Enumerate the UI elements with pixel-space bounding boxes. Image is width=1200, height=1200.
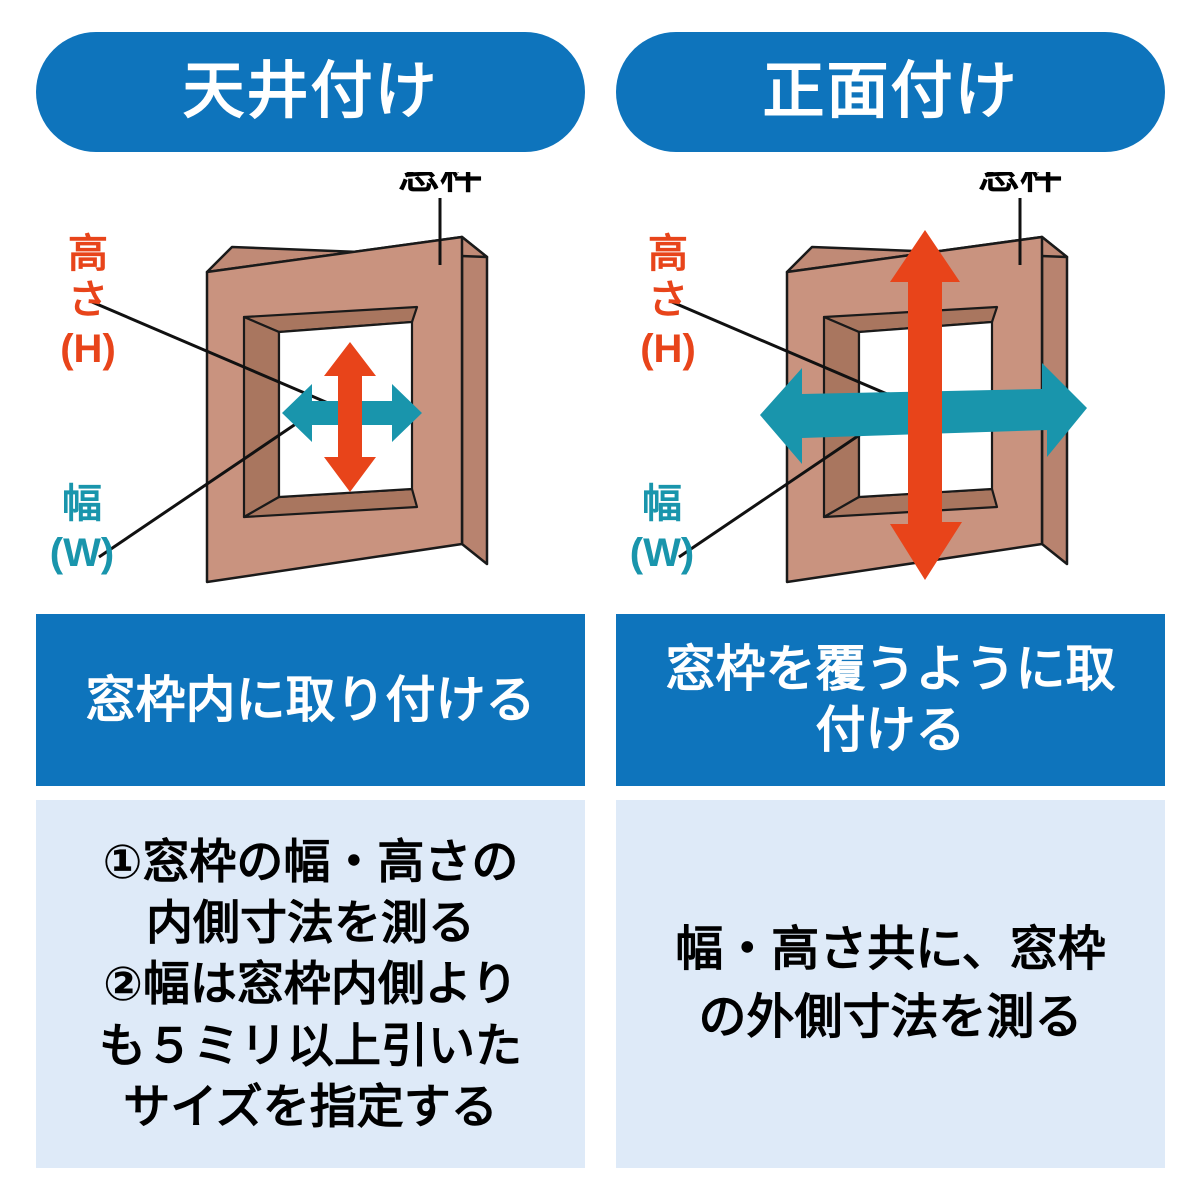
caption-bar-text: 窓枠を覆うように取 付ける [666,639,1116,761]
note-line: 幅・高さ共に、窓枠 [626,916,1155,984]
height-label-char-1: 高 [68,232,108,276]
header-pill-ceiling-mount: 天井付け [36,32,585,152]
width-label-char-1: 幅 [62,482,102,526]
note-box-text: 幅・高さ共に、窓枠 の外側寸法を測る [626,916,1155,1052]
column-ceiling-mount: 天井付け [32,0,589,1200]
header-pill-label: 正面付け [762,61,1018,123]
frame-label: 窓枠 [978,172,1062,197]
height-label-paren: (H) [60,327,116,371]
width-label-paren: (W) [630,531,694,575]
measurement-guide-page: 天井付け [0,0,1200,1200]
caption-line: 付ける [666,700,1116,761]
note-line: 内側寸法を測る [46,892,575,953]
caption-line: 窓枠内に取り付ける [86,670,536,731]
caption-bar-ceiling-mount: 窓枠内に取り付ける [36,614,585,786]
note-box-ceiling-mount: ①窓枠の幅・高さの 内側寸法を測る ②幅は窓枠内側より も５ミリ以上引いた サイ… [36,800,585,1168]
caption-bar-text: 窓枠内に取り付ける [86,670,536,731]
height-label-char-2: さ [648,278,688,322]
note-line: も５ミリ以上引いた [46,1015,575,1076]
header-pill-label: 天井付け [182,61,438,123]
diagram-ceiling-mount: 窓枠 高 さ (H) 幅 (W) [32,172,589,604]
frame-label: 窓枠 [398,172,482,197]
caption-line: 窓枠を覆うように取 [666,639,1116,700]
note-line: ②幅は窓枠内側より [46,953,575,1014]
note-line: サイズを指定する [46,1076,575,1137]
diagram-front-mount: 窓枠 高 さ (H) 幅 (W) [612,172,1169,604]
width-label-char-1: 幅 [642,482,682,526]
note-line: の外側寸法を測る [626,984,1155,1052]
header-pill-front-mount: 正面付け [616,32,1165,152]
height-label-paren: (H) [640,327,696,371]
note-box-front-mount: 幅・高さ共に、窓枠 の外側寸法を測る [616,800,1165,1168]
caption-bar-front-mount: 窓枠を覆うように取 付ける [616,614,1165,786]
height-label-char-1: 高 [648,232,688,276]
column-front-mount: 正面付け [612,0,1169,1200]
note-line: ①窓枠の幅・高さの [46,831,575,892]
height-label-char-2: さ [68,278,108,322]
note-box-text: ①窓枠の幅・高さの 内側寸法を測る ②幅は窓枠内側より も５ミリ以上引いた サイ… [46,831,575,1136]
width-label-paren: (W) [50,531,114,575]
